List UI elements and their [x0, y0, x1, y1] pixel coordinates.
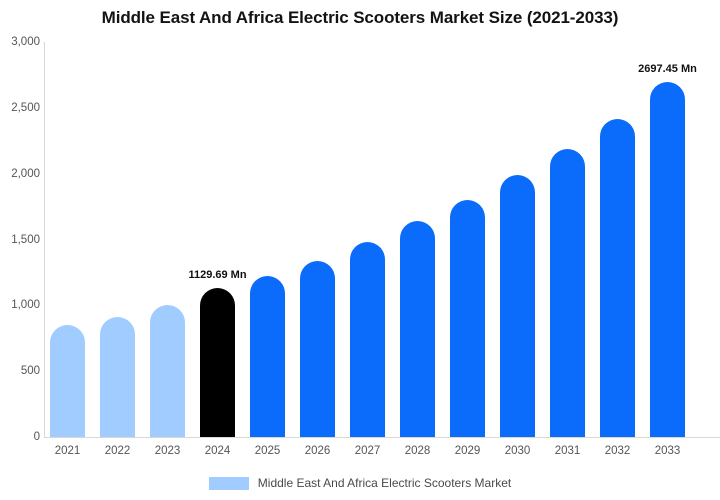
x-axis-tick-label: 2025: [243, 445, 293, 457]
x-axis-tick-label: 2027: [343, 445, 393, 457]
x-axis-tick-label: 2026: [293, 445, 343, 457]
bar-2021[interactable]: [50, 325, 85, 437]
y-axis-tick-label: 500: [0, 365, 40, 377]
y-axis-tick-label: 3,000: [0, 36, 40, 48]
y-axis-tick-label: 1,500: [0, 234, 40, 246]
bar-2023[interactable]: [150, 305, 185, 437]
bar-group[interactable]: [450, 42, 485, 437]
legend-label: Middle East And Africa Electric Scooters…: [258, 476, 511, 490]
chart-legend: Middle East And Africa Electric Scooters…: [0, 476, 720, 490]
bar-2028[interactable]: [400, 221, 435, 437]
bar-group[interactable]: [150, 42, 185, 437]
x-axis-tick-label: 2033: [643, 445, 693, 457]
x-axis-tick-label: 2022: [93, 445, 143, 457]
bar-group[interactable]: [50, 42, 85, 437]
bar-2022[interactable]: [100, 317, 135, 437]
bar-group[interactable]: [400, 42, 435, 437]
bar-2032[interactable]: [600, 119, 635, 437]
y-axis-tick-label: 0: [0, 431, 40, 443]
bar-group[interactable]: [100, 42, 135, 437]
bar-2026[interactable]: [300, 261, 335, 437]
x-axis-tick-label: 2021: [43, 445, 93, 457]
x-axis-tick-label: 2031: [543, 445, 593, 457]
x-axis-tick-label: 2029: [443, 445, 493, 457]
chart-title: Middle East And Africa Electric Scooters…: [0, 8, 720, 28]
x-axis-tick-label: 2030: [493, 445, 543, 457]
bar-group[interactable]: [300, 42, 335, 437]
bar-chart: Middle East And Africa Electric Scooters…: [0, 0, 720, 500]
x-axis-tick-label: 2032: [593, 445, 643, 457]
bar-2030[interactable]: [500, 175, 535, 437]
x-axis-tick-label: 2028: [393, 445, 443, 457]
bar-group[interactable]: [250, 42, 285, 437]
bar-2025[interactable]: [250, 276, 285, 437]
bar-group[interactable]: [650, 42, 685, 437]
bar-group[interactable]: [550, 42, 585, 437]
bar-2029[interactable]: [450, 200, 485, 437]
y-axis-tick-label: 2,000: [0, 168, 40, 180]
x-axis-tick-label: 2023: [143, 445, 193, 457]
y-axis-tick-label: 2,500: [0, 102, 40, 114]
bar-2033[interactable]: [650, 82, 685, 437]
bar-2024[interactable]: [200, 288, 235, 437]
bar-value-label: 2697.45 Mn: [608, 63, 720, 75]
bar-group[interactable]: [200, 42, 235, 437]
bar-group[interactable]: [350, 42, 385, 437]
y-axis-tick-label: 1,000: [0, 299, 40, 311]
bar-2031[interactable]: [550, 149, 585, 437]
y-axis: 3,0002,5002,0001,5001,0005000: [0, 0, 40, 500]
bar-group[interactable]: [600, 42, 635, 437]
bar-group[interactable]: [500, 42, 535, 437]
bar-2027[interactable]: [350, 242, 385, 437]
x-axis-tick-label: 2024: [193, 445, 243, 457]
legend-swatch-icon: [209, 477, 249, 490]
